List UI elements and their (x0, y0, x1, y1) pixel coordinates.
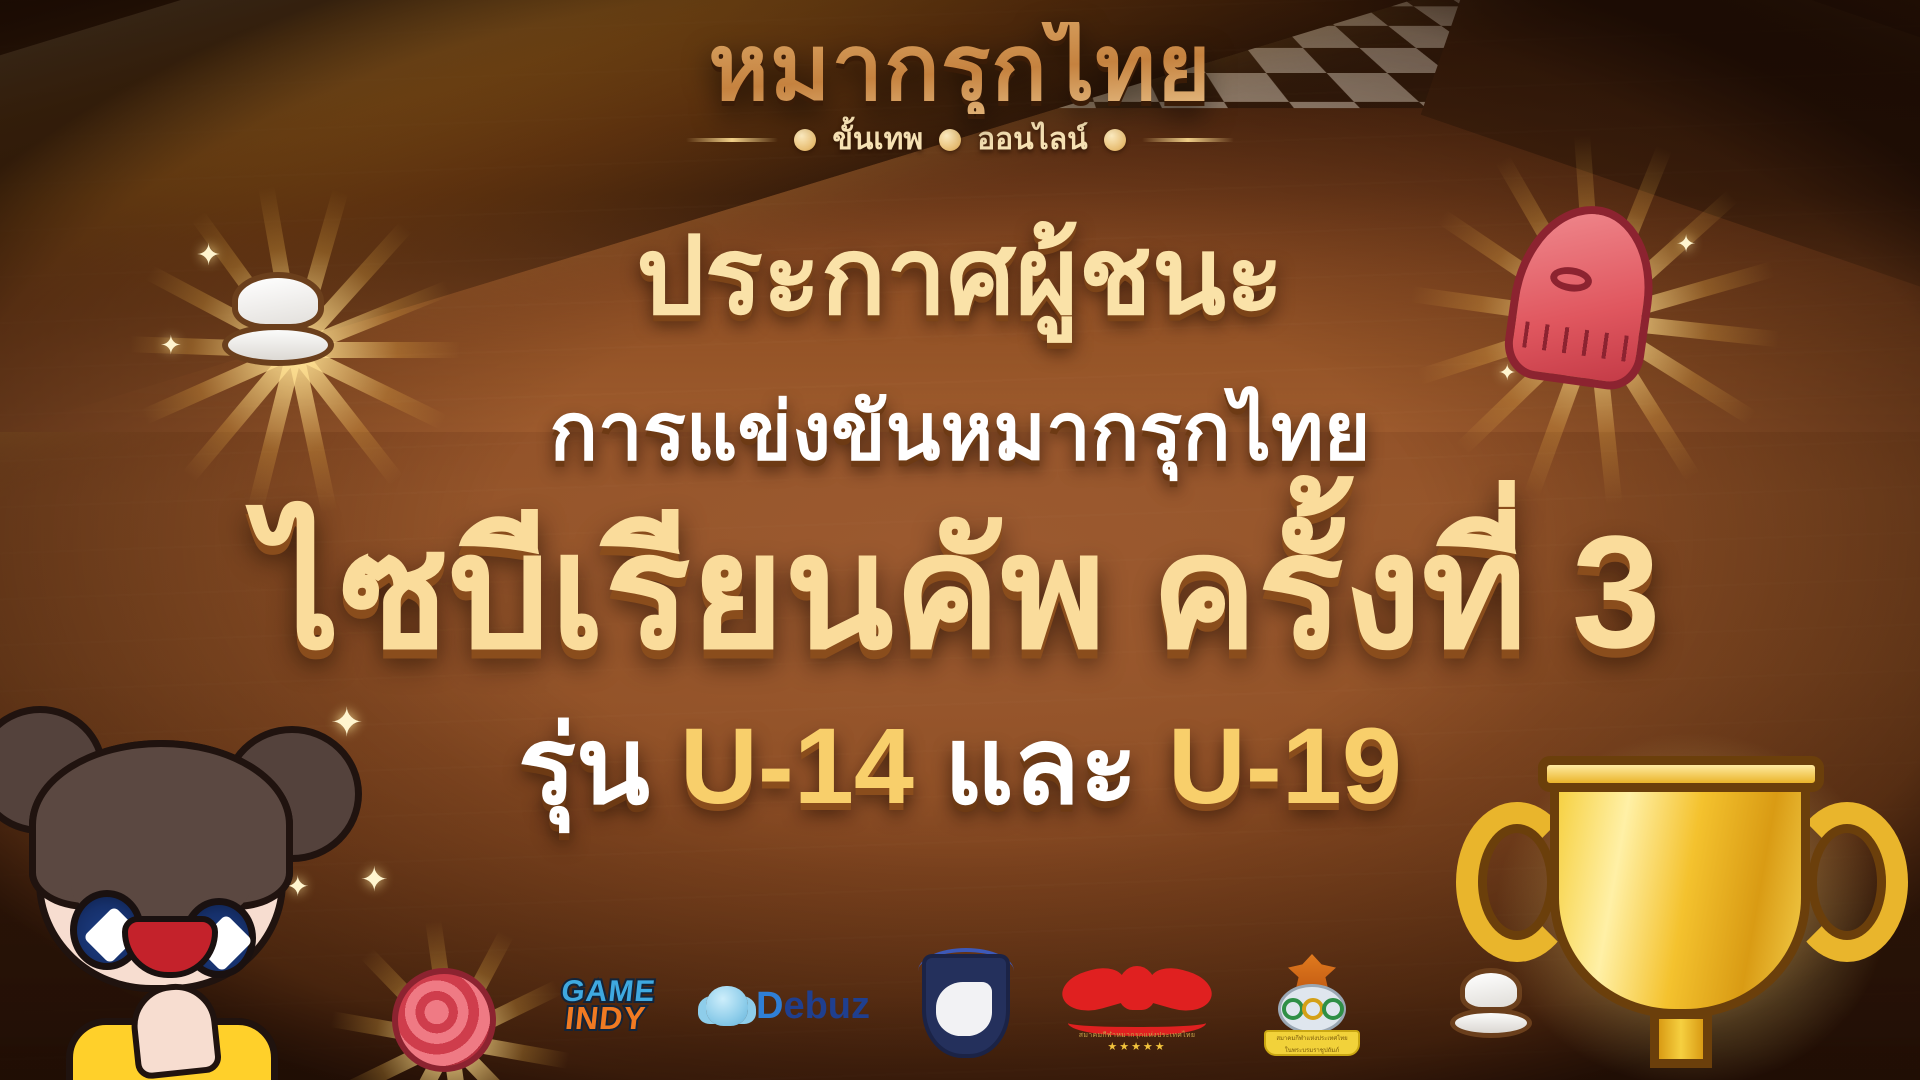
tagline-dot (794, 129, 816, 151)
class-conjunction: และ (944, 705, 1138, 826)
brand-logo: หมากรุกไทย ขั้นเทพ ออนไลน์ (0, 22, 1920, 163)
tagline-rule-left (686, 138, 778, 142)
olympic-ring-icon (1282, 998, 1304, 1020)
trophy-rim (1538, 756, 1824, 792)
olympic-ring-icon (1322, 998, 1344, 1020)
tagline-rule-right (1142, 138, 1234, 142)
pawn-base (222, 324, 334, 366)
event-title-heading: ไซบีเรียนคัพ ครั้งที่ 3 (0, 512, 1920, 672)
tagline-right-text: ออนไลน์ (977, 116, 1088, 163)
tagline-dot (939, 129, 961, 151)
class-second: U-19 (1168, 705, 1402, 826)
class-first: U-14 (680, 705, 914, 826)
sponsor-logo-debuz[interactable]: Debuz (706, 985, 870, 1028)
debuz-wordmark: Debuz (756, 985, 870, 1028)
gameindy-line2: INDY (564, 1005, 647, 1033)
subtitle-heading: การแข่งขันหมากรุกไทย (0, 392, 1920, 472)
tagline-dot (1104, 129, 1126, 151)
debuz-rest: ebuz (783, 985, 870, 1027)
logo-tagline: ขั้นเทพ ออนไลน์ (0, 116, 1920, 163)
hair-bangs (29, 740, 293, 910)
tagline-left-text: ขั้นเทพ (832, 116, 923, 163)
debuz-initial: D (756, 985, 783, 1027)
garuda-body-icon (1118, 966, 1156, 1010)
poster-canvas: ✦ ✦ ✦ ✦ ✦ ✦ ✦ หมากรุกไทย ขั้นเทพ ออนไลน์… (0, 0, 1920, 1080)
debuz-bug-icon (706, 986, 748, 1026)
sponsor-logo-gameindy[interactable]: GAME INDY (557, 979, 657, 1032)
logo-title: หมากรุกไทย (0, 22, 1920, 114)
sponsor-logo-garuda[interactable]: สมาคมกีฬาหมากรุกแห่งประเทศไทย ★★★★★ (1062, 958, 1212, 1054)
announce-heading: ประกาศผู้ชนะ (0, 222, 1920, 330)
emblem-banner: สมาคมกีฬาแห่งประเทศไทย ในพระบรมราชูปถัมภ… (1264, 1030, 1360, 1056)
olympic-ring-icon (1302, 998, 1324, 1020)
class-prefix: รุ่น (518, 705, 650, 826)
sponsor-logo-wolf-club[interactable] (922, 954, 1010, 1058)
wolf-head-icon (936, 982, 992, 1036)
emblem-banner-line2: ในพระบรมราชูปถัมภ์ (1266, 1048, 1358, 1056)
garuda-stars: ★★★★★ (1062, 1040, 1212, 1053)
emblem-banner-line1: สมาคมกีฬาแห่งประเทศไทย (1266, 1036, 1358, 1044)
sponsor-logo-thai-sports-emblem[interactable]: สมาคมกีฬาแห่งประเทศไทย ในพระบรมราชูปถัมภ… (1264, 954, 1360, 1058)
sponsor-row: GAME INDY Debuz สมาคมกีฬาหมากรุกแห่งประเ… (0, 954, 1920, 1058)
